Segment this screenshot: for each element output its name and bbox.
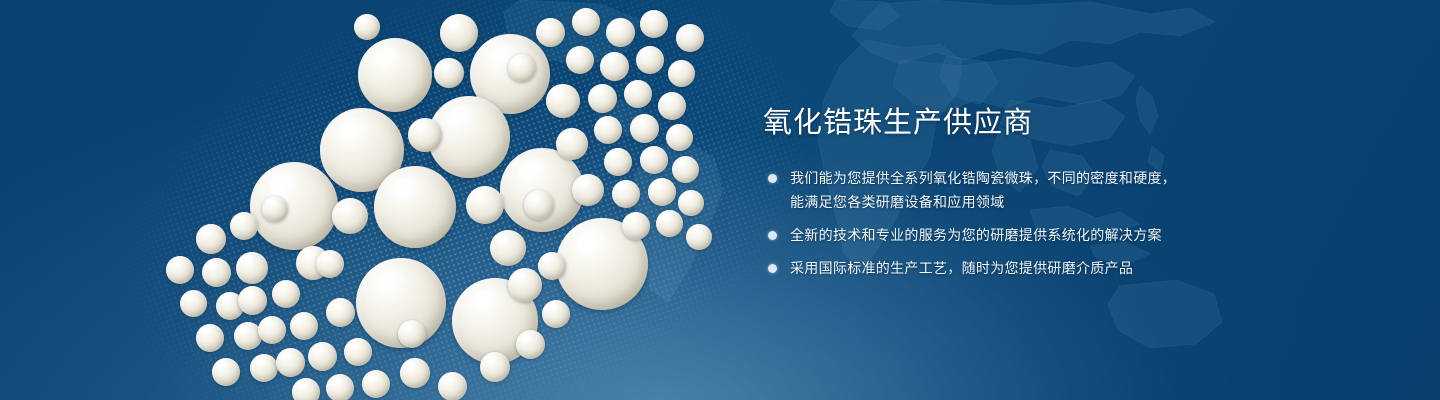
bead xyxy=(236,252,268,284)
bead xyxy=(440,14,478,52)
bullet-dot-icon xyxy=(768,231,777,240)
bead xyxy=(538,252,566,280)
bead xyxy=(524,190,554,220)
bead xyxy=(202,258,231,287)
bead xyxy=(374,166,456,248)
bead xyxy=(588,84,617,113)
bead xyxy=(606,18,635,47)
bead xyxy=(542,300,570,328)
bead xyxy=(296,246,330,280)
bead xyxy=(612,180,640,208)
bead xyxy=(292,378,320,400)
bead xyxy=(234,322,262,350)
bead xyxy=(428,96,510,178)
bead xyxy=(408,118,442,152)
page-title: 氧化锆珠生产供应商 xyxy=(763,104,1233,142)
bead xyxy=(572,174,604,206)
bead xyxy=(262,196,288,222)
feature-list: 我们能为您提供全系列氧化锆陶瓷微珠，不同的密度和硬度， 能满足您各类研磨设备和应… xyxy=(763,166,1233,280)
bead xyxy=(180,290,207,317)
bead xyxy=(672,156,699,183)
list-item: 采用国际标准的生产工艺，随时为您提供研磨介质产品 xyxy=(763,256,1233,280)
bead xyxy=(438,372,467,400)
bead xyxy=(556,218,648,310)
zirconia-beads-image xyxy=(0,0,760,400)
bead xyxy=(648,178,676,206)
bead xyxy=(508,268,542,302)
bead xyxy=(308,342,337,371)
list-item-line: 采用国际标准的生产工艺，随时为您提供研磨介质产品 xyxy=(790,256,1233,280)
bead xyxy=(600,52,629,81)
bead xyxy=(216,292,244,320)
list-item-line: 我们能为您提供全系列氧化锆陶瓷微珠，不同的密度和硬度， xyxy=(790,166,1233,190)
bead xyxy=(166,256,194,284)
bead xyxy=(320,108,404,192)
bead xyxy=(452,278,538,364)
hero-banner: 氧化锆珠生产供应商 我们能为您提供全系列氧化锆陶瓷微珠，不同的密度和硬度， 能满… xyxy=(0,0,1440,400)
bead xyxy=(230,212,258,240)
bead xyxy=(290,312,318,340)
bead xyxy=(316,250,344,278)
bead xyxy=(272,280,300,308)
bead xyxy=(258,316,286,344)
bead xyxy=(624,80,652,108)
bead xyxy=(238,286,267,315)
bead xyxy=(470,34,550,114)
bead xyxy=(594,116,622,144)
bead xyxy=(666,124,693,151)
bead xyxy=(490,230,526,266)
bead xyxy=(500,148,584,232)
bead xyxy=(250,162,338,250)
bead xyxy=(196,224,226,254)
bead xyxy=(630,114,659,143)
list-item-line: 能满足您各类研磨设备和应用领域 xyxy=(790,190,1233,214)
bead xyxy=(344,338,372,366)
bead xyxy=(556,128,588,160)
bead xyxy=(508,54,536,82)
bead xyxy=(516,330,545,359)
bead xyxy=(604,148,632,176)
bullet-dot-icon xyxy=(768,174,777,183)
bead xyxy=(658,92,686,120)
bead xyxy=(676,24,704,52)
bead xyxy=(566,46,594,74)
bead xyxy=(536,18,565,47)
bead xyxy=(354,14,380,40)
bead xyxy=(678,190,704,216)
bead xyxy=(212,358,240,386)
bead xyxy=(250,354,278,382)
bead xyxy=(276,348,305,377)
bead xyxy=(326,298,355,327)
bead xyxy=(636,46,664,74)
bead xyxy=(362,370,390,398)
bullet-dot-icon xyxy=(768,264,777,273)
bead xyxy=(326,374,354,400)
bead xyxy=(546,84,580,118)
bead xyxy=(668,60,695,87)
bead xyxy=(400,358,430,388)
bead xyxy=(572,8,600,36)
bead xyxy=(640,10,668,38)
bead xyxy=(332,198,368,234)
banner-copy: 氧化锆珠生产供应商 我们能为您提供全系列氧化锆陶瓷微珠，不同的密度和硬度， 能满… xyxy=(763,104,1233,280)
list-item-line: 全新的技术和专业的服务为您的研磨提供系统化的解决方案 xyxy=(790,223,1233,247)
list-item: 我们能为您提供全系列氧化锆陶瓷微珠，不同的密度和硬度， 能满足您各类研磨设备和应… xyxy=(763,166,1233,214)
bead xyxy=(196,324,224,352)
bead xyxy=(398,320,426,348)
bead xyxy=(640,146,668,174)
list-item: 全新的技术和专业的服务为您的研磨提供系统化的解决方案 xyxy=(763,223,1233,247)
bead xyxy=(686,224,712,250)
bead xyxy=(622,212,650,240)
bead xyxy=(356,258,446,348)
bead xyxy=(466,186,504,224)
bead xyxy=(480,352,510,382)
bead xyxy=(358,38,432,112)
bead xyxy=(434,58,464,88)
bead xyxy=(656,210,683,237)
